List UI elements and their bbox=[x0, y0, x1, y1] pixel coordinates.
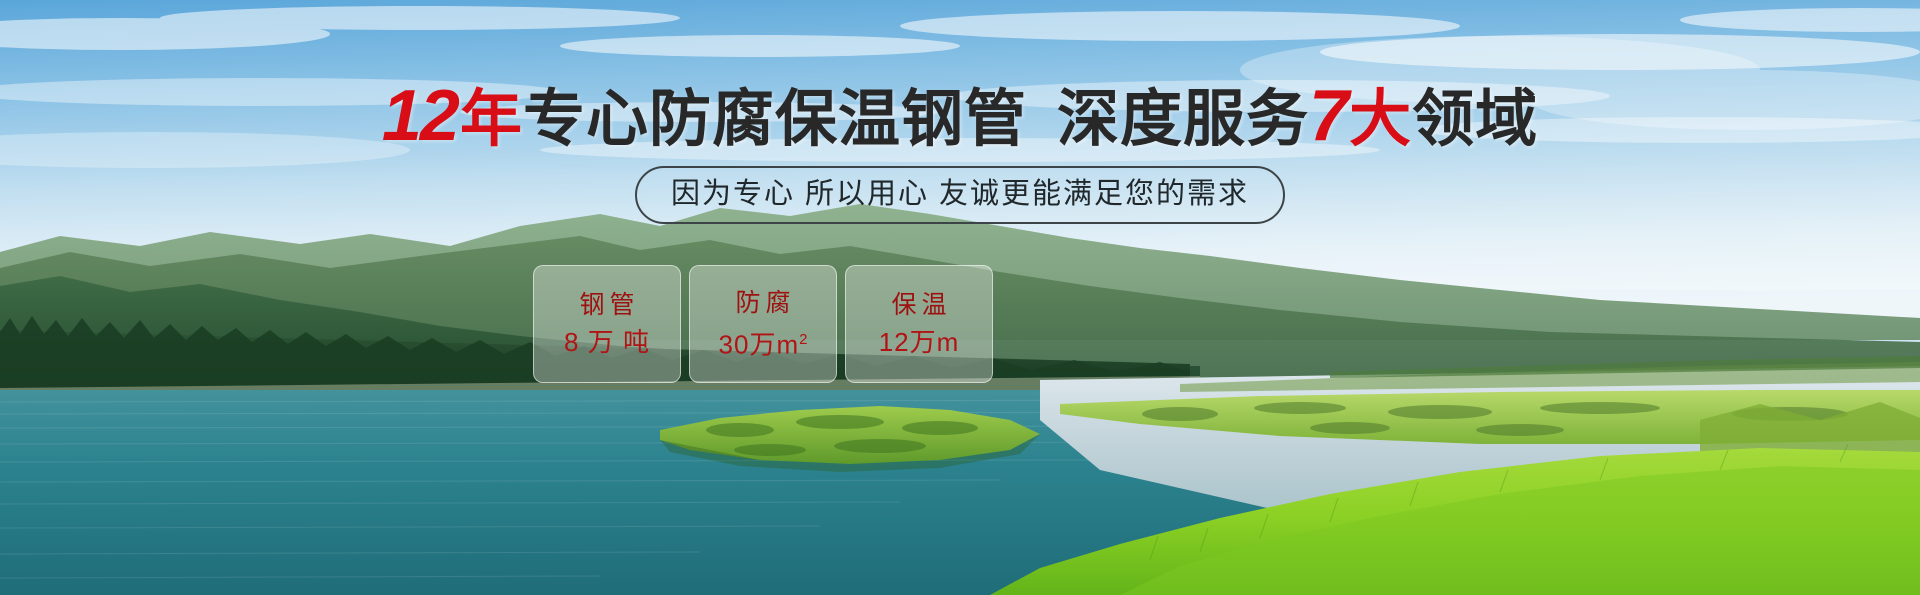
banner-headline: 12年专心防腐保温钢管深度服务7大领域 bbox=[0, 84, 1920, 152]
stat-card-anticorrosion[interactable]: 防腐 30万m2 bbox=[689, 265, 837, 383]
headline-years-number: 12 bbox=[382, 76, 460, 156]
stat-card-value: 8 万 吨 bbox=[564, 326, 650, 358]
stat-card-insulation[interactable]: 保温 12万m bbox=[845, 265, 993, 383]
stat-card-title: 保温 bbox=[886, 290, 951, 320]
headline-fields-number: 7 bbox=[1309, 76, 1349, 156]
stat-card-title: 防腐 bbox=[730, 288, 795, 318]
stat-card-value-exponent: 2 bbox=[799, 331, 807, 348]
stat-card-steel-pipe[interactable]: 钢管 8 万 吨 bbox=[533, 265, 681, 383]
stat-card-value-main: 12万m bbox=[879, 327, 960, 357]
headline-years-unit: 年 bbox=[460, 85, 523, 154]
headline-service-phrase: 深度服务 bbox=[1057, 85, 1309, 154]
stat-card-title: 钢管 bbox=[574, 290, 639, 320]
stat-card-value-main: 30万m bbox=[719, 329, 800, 359]
stat-card-value: 12万m bbox=[879, 326, 960, 358]
banner-subtitle-wrap: 因为专心 所以用心 友诚更能满足您的需求 bbox=[0, 166, 1920, 224]
stat-card-value-main: 8 万 吨 bbox=[564, 327, 650, 357]
headline-fields-word: 领域 bbox=[1412, 85, 1538, 154]
headline-fields-unit: 大 bbox=[1349, 85, 1412, 154]
hero-banner: 12年专心防腐保温钢管深度服务7大领域 因为专心 所以用心 友诚更能满足您的需求… bbox=[0, 0, 1920, 595]
stat-card-group: 钢管 8 万 吨 防腐 30万m2 保温 12万m bbox=[533, 265, 993, 383]
headline-main-phrase: 专心防腐保温钢管 bbox=[523, 85, 1027, 154]
banner-subtitle-pill: 因为专心 所以用心 友诚更能满足您的需求 bbox=[635, 166, 1285, 224]
stat-card-value: 30万m2 bbox=[719, 324, 808, 361]
